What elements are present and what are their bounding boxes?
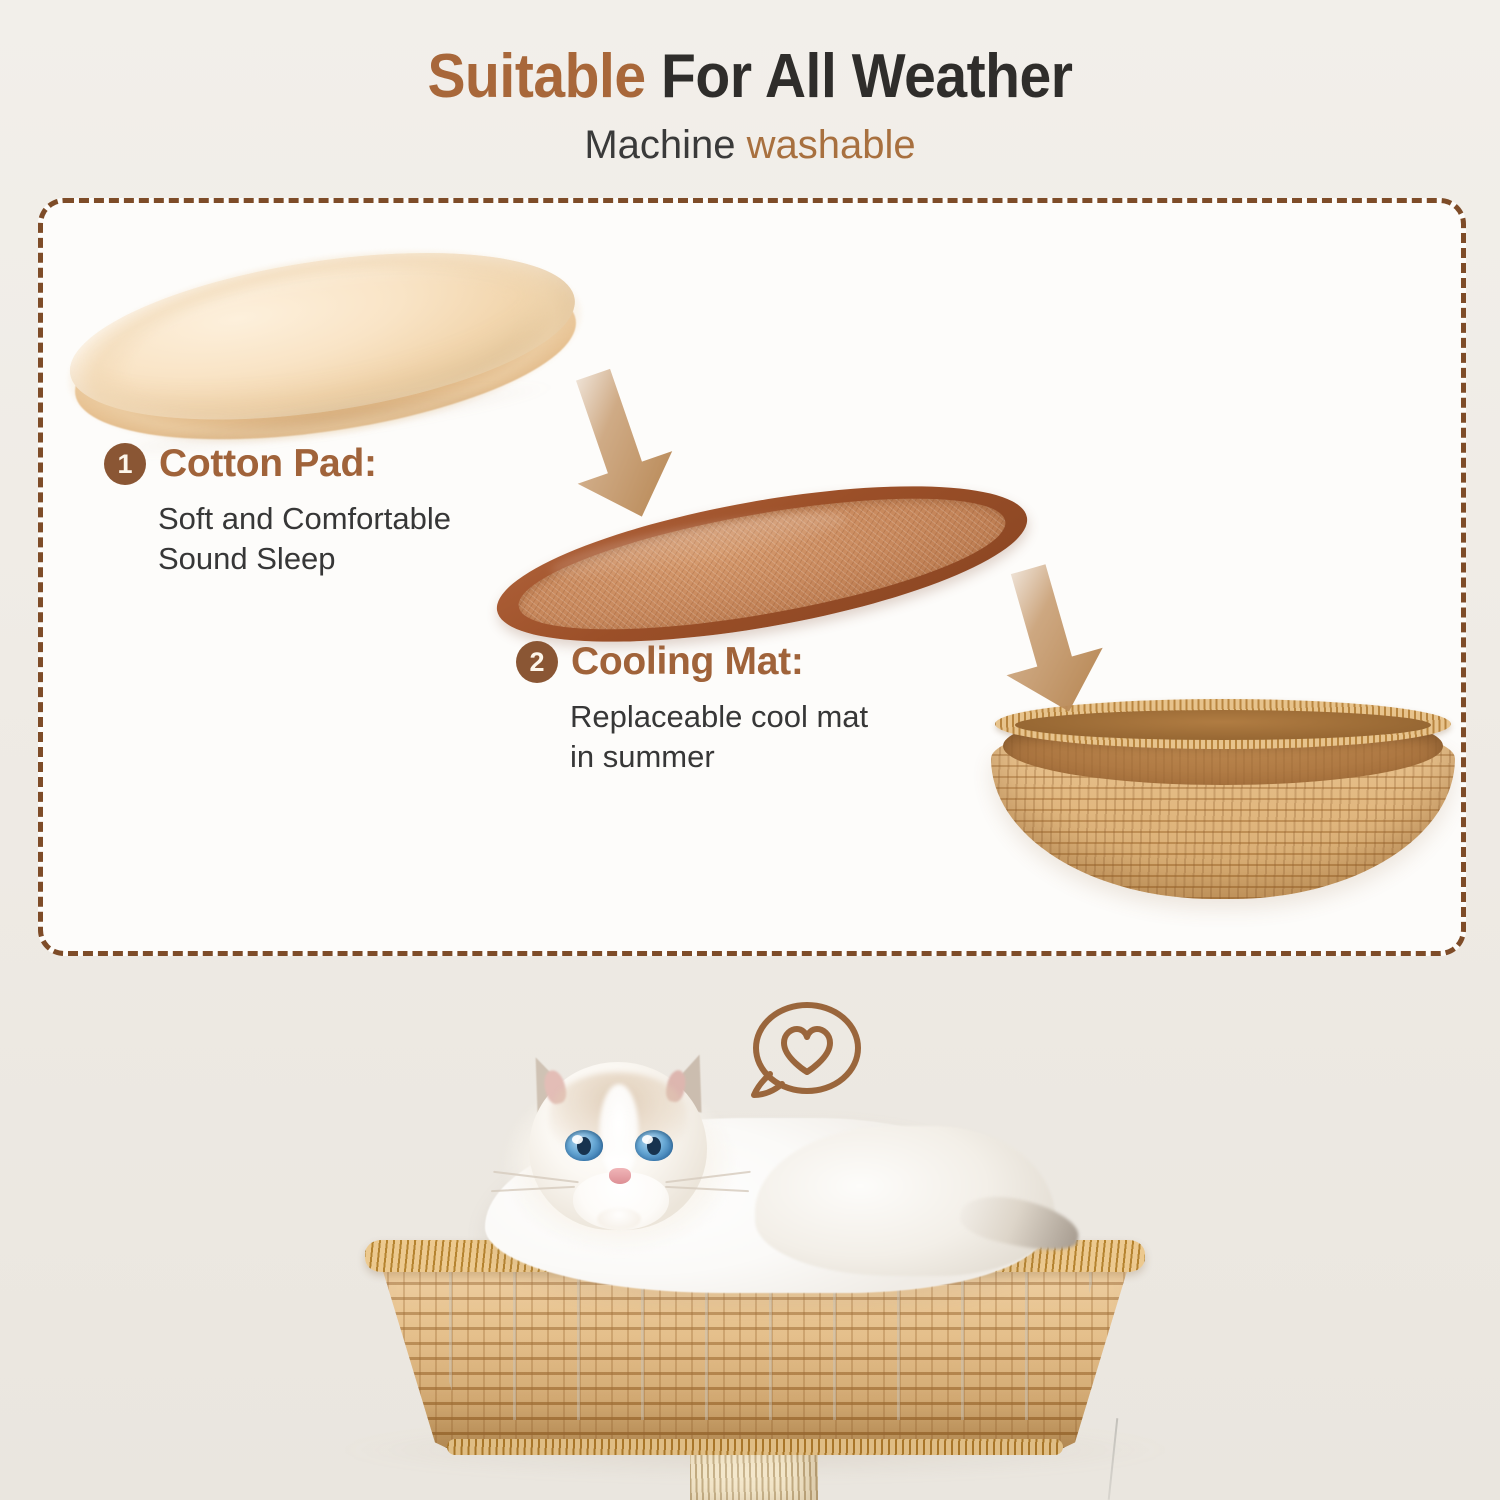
callout-1-description: Soft and Comfortable Sound Sleep xyxy=(158,499,451,580)
page-subtitle: Machine washable xyxy=(0,123,1500,168)
sisal-scratching-post xyxy=(690,1448,818,1500)
callout-cooling-mat: 2 Cooling Mat: Replaceable cool mat in s… xyxy=(516,640,868,778)
page-title: Suitable For All Weather xyxy=(60,44,1440,109)
callout-2-head: 2 Cooling Mat: xyxy=(516,640,868,684)
arrow-mat-to-basket xyxy=(993,571,1173,731)
header: Suitable For All Weather Machine washabl… xyxy=(0,0,1500,168)
cat-head xyxy=(515,1048,721,1244)
callout-cotton-pad: 1 Cotton Pad: Soft and Comfortable Sound… xyxy=(104,442,451,580)
subtitle-highlight: washable xyxy=(747,123,916,167)
cat-eye-right xyxy=(635,1130,673,1161)
cat-chin xyxy=(597,1208,641,1230)
subtitle-dark: Machine xyxy=(584,123,746,167)
cat-eye-glint-left xyxy=(572,1135,583,1144)
cat-eye-glint-right xyxy=(642,1135,653,1144)
cat-blaze xyxy=(599,1084,639,1180)
callout-1-head: 1 Cotton Pad: xyxy=(104,442,451,486)
callout-2-label: Cooling Mat: xyxy=(571,640,804,684)
callout-1-label: Cotton Pad: xyxy=(159,442,377,486)
callout-1-badge: 1 xyxy=(104,443,146,485)
callout-2-description: Replaceable cool mat in summer xyxy=(570,697,868,778)
cat-nose xyxy=(609,1168,631,1184)
arrow-pad-to-mat xyxy=(563,369,733,534)
heart-speech-bubble-icon xyxy=(744,1000,864,1113)
callout-2-badge: 2 xyxy=(516,641,558,683)
title-highlight: Suitable xyxy=(427,42,645,111)
cat-bed-base-edge xyxy=(447,1439,1063,1455)
title-rest: For All Weather xyxy=(646,42,1073,111)
cotton-pad-illustration xyxy=(59,224,591,470)
cat-eye-left xyxy=(565,1130,603,1161)
